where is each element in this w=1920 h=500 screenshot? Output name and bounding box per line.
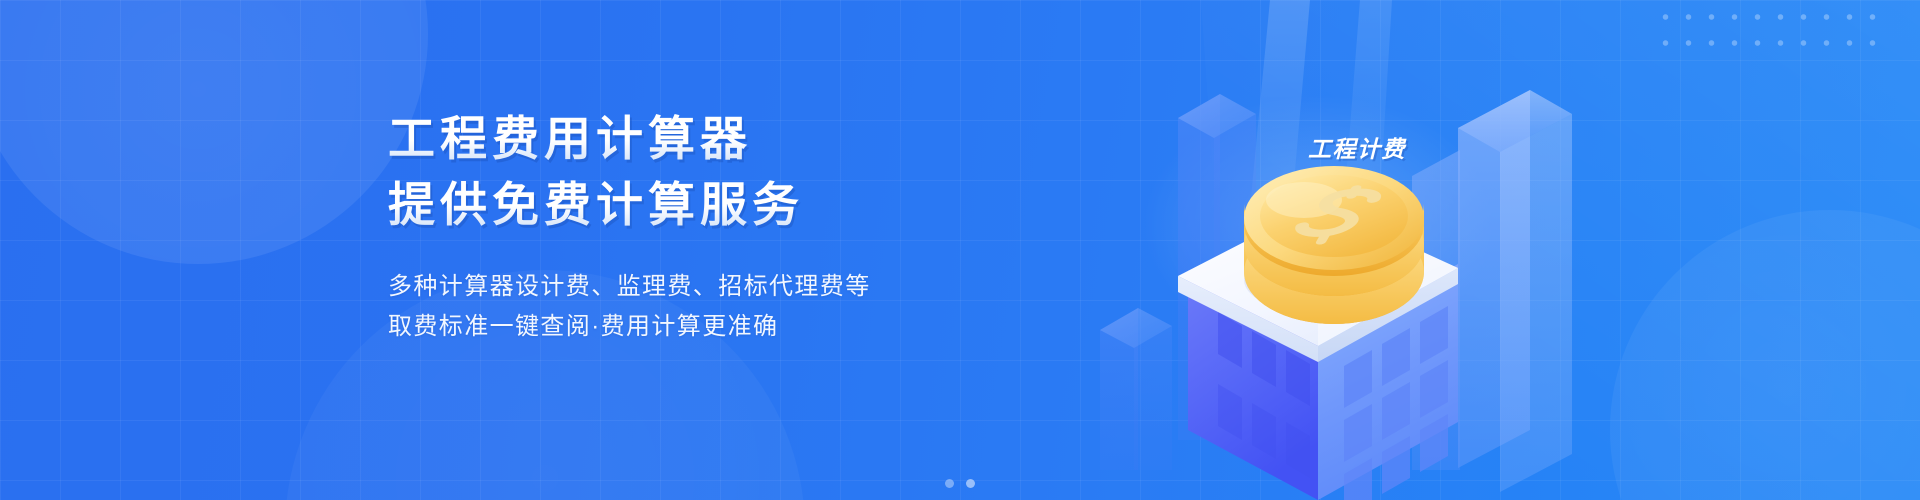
carousel-indicator[interactable] <box>0 479 1920 488</box>
banner-illustration: 工程计费 <box>1060 0 1580 500</box>
carousel-dot-2[interactable] <box>966 479 975 488</box>
carousel-dot-1[interactable] <box>945 479 954 488</box>
dollar-coin-icon <box>1244 166 1424 324</box>
banner-description-line-2: 取费标准一键查阅·费用计算更准确 <box>388 307 871 347</box>
isometric-building-icon <box>1458 90 1572 492</box>
banner-title-line-2: 提供免费计算服务 <box>388 176 871 234</box>
dot-matrix-icon <box>1654 4 1892 62</box>
banner-description: 多种计算器设计费、监理费、招标代理费等 取费标准一键查阅·费用计算更准确 <box>388 267 871 347</box>
banner-description-line-1: 多种计算器设计费、监理费、招标代理费等 <box>388 267 871 307</box>
illustration-label: 工程计费 <box>1308 130 1406 164</box>
circle-decoration-top-left <box>0 0 428 264</box>
promo-banner: 工程费用计算器 提供免费计算服务 多种计算器设计费、监理费、招标代理费等 取费标… <box>0 0 1920 500</box>
banner-copy: 工程费用计算器 提供免费计算服务 多种计算器设计费、监理费、招标代理费等 取费标… <box>388 110 871 347</box>
banner-title-line-1: 工程费用计算器 <box>388 110 871 168</box>
